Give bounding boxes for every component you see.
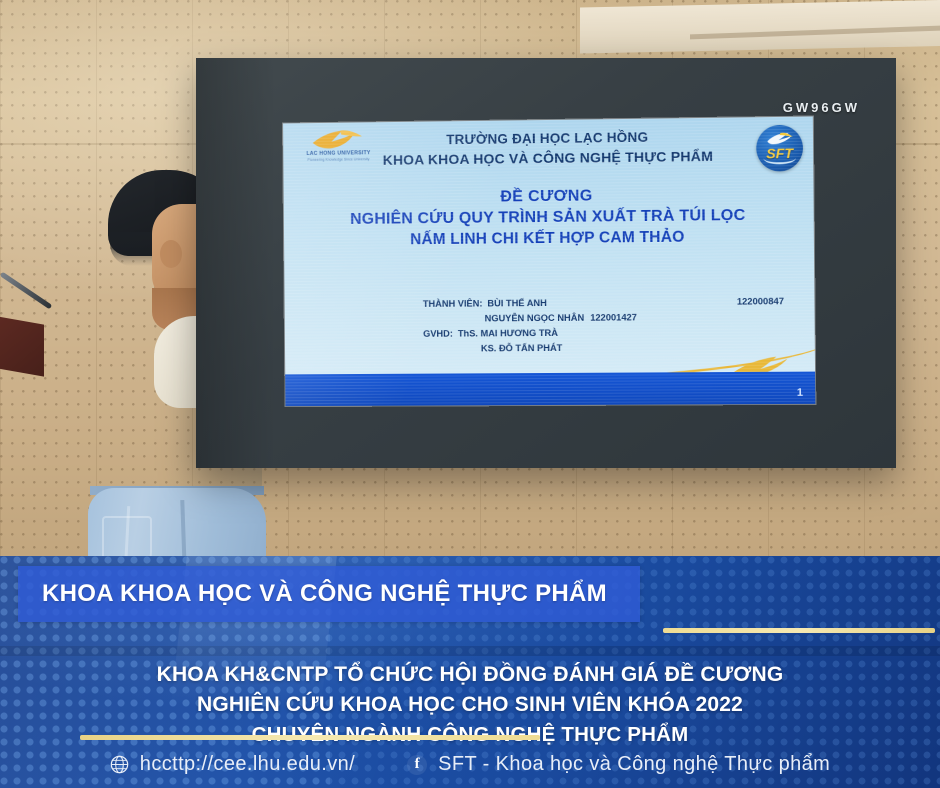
globe-icon <box>110 755 129 774</box>
presenter-ear <box>160 240 182 268</box>
advisor-label: GVHD: <box>423 327 453 342</box>
info-banner: KHOA KHOA HỌC VÀ CÔNG NGHỆ THỰC PHẨM KHO… <box>0 556 940 788</box>
slide-title-block: ĐỀ CƯƠNG NGHIÊN CỨU QUY TRÌNH SẢN XUẤT T… <box>284 185 814 250</box>
headline-line1: KHOA KH&CNTP TỔ CHỨC HỘI ĐỒNG ĐÁNH GIÁ Đ… <box>0 660 940 690</box>
presentation-slide: LAC HONG UNIVERSITY Pioneering Knowledge… <box>283 116 815 406</box>
advisor-name: ThS. MAI HƯƠNG TRÀ <box>453 326 558 342</box>
members-label: THÀNH VIÊN: <box>423 296 483 311</box>
member-id: 122001427 <box>584 310 637 325</box>
conference-room-photo: GW96GW LAC HONG UNIVERSITY Pioneering Kn… <box>0 0 940 560</box>
sft-bird-icon <box>766 132 792 145</box>
department-name-box: KHOA KHOA HỌC VÀ CÔNG NGHỆ THỰC PHẨM <box>18 566 640 622</box>
member-id: 122000847 <box>737 294 784 309</box>
headline-line2: NGHIÊN CỨU KHOA HỌC CHO SINH VIÊN KHÓA 2… <box>0 690 940 720</box>
member-name: NGUYỄN NGỌC NHÂN <box>485 311 585 327</box>
banner-footer: hccttp://cee.lhu.edu.vn/ f SFT - Khoa họ… <box>0 753 940 776</box>
podium-corner <box>0 315 44 376</box>
facebook-page-name[interactable]: SFT - Khoa học và Công nghệ Thực phẩm <box>438 753 830 776</box>
facebook-item[interactable]: f SFT - Khoa học và Công nghệ Thực phẩm <box>407 753 830 776</box>
gold-divider-bottom <box>80 735 540 740</box>
display-edge-shadow <box>196 58 276 468</box>
member-name: BÙI THẾ ANH <box>482 296 547 311</box>
slide-footer-band: 1 <box>285 372 815 407</box>
gold-divider-top <box>663 628 935 633</box>
facebook-icon: f <box>407 755 427 775</box>
website-url[interactable]: hccttp://cee.lhu.edu.vn/ <box>140 753 355 776</box>
display-watermark: GW96GW <box>783 100 860 115</box>
slide-title-line2: NGHIÊN CỨU QUY TRÌNH SẢN XUẤT TRÀ TÚI LỌ… <box>284 206 814 229</box>
slide-page-number: 1 <box>797 387 803 399</box>
department-name-text: KHOA KHOA HỌC VÀ CÔNG NGHỆ THỰC PHẨM <box>18 580 607 608</box>
slide-university-name: TRƯỜNG ĐẠI HỌC LẠC HỒNG <box>378 129 718 148</box>
slide-title-line1: ĐỀ CƯƠNG <box>284 185 814 209</box>
phoenix-bird-icon <box>311 128 364 153</box>
slide-title-line3: NẤM LINH CHI KẾT HỢP CAM THẢO <box>284 227 814 250</box>
website-item[interactable]: hccttp://cee.lhu.edu.vn/ <box>110 753 355 776</box>
slide-faculty-name: KHOA KHOA HỌC VÀ CÔNG NGHỆ THỰC PHẨM <box>329 147 769 168</box>
poster-image: GW96GW LAC HONG UNIVERSITY Pioneering Kn… <box>0 0 940 788</box>
